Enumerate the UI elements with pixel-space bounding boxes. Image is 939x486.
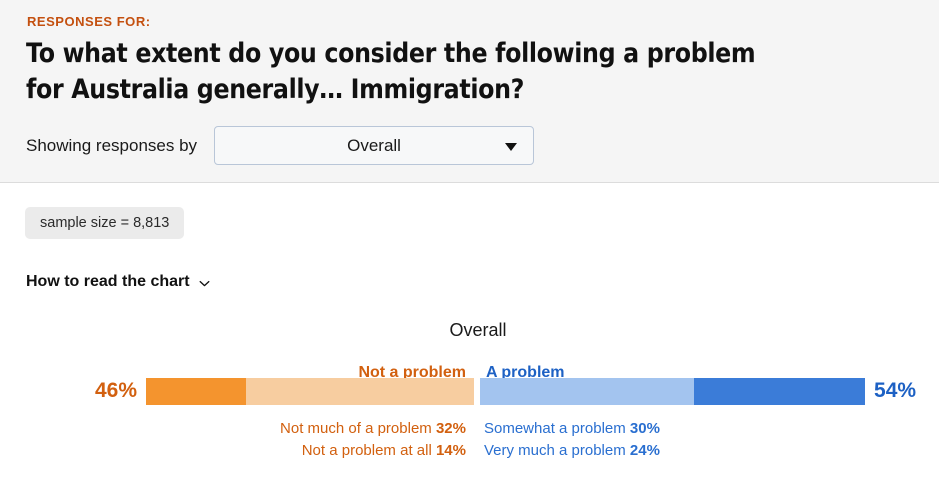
- header-band: RESPONSES FOR: To what extent do you con…: [0, 0, 939, 183]
- positive-total-percent: 54%: [874, 379, 916, 403]
- legend-item-label: Not a problem at all: [302, 442, 432, 459]
- bar-segment-not-a-problem-at-all[interactable]: [146, 378, 246, 405]
- legend-item-very-much-a-problem: Very much a problem 24%: [484, 442, 660, 459]
- eyebrow-label: RESPONSES FOR:: [27, 14, 151, 29]
- legend-item-value: 24%: [630, 442, 660, 459]
- legend-item-value: 30%: [630, 420, 660, 437]
- legend-item-label: Somewhat a problem: [484, 420, 626, 437]
- filter-label: Showing responses by: [26, 136, 197, 156]
- legend-item-value: 32%: [436, 420, 466, 437]
- legend-item-value: 14%: [436, 442, 466, 459]
- legend-row: Not much of a problem 32% Somewhat a pro…: [0, 420, 939, 442]
- responses-by-dropdown[interactable]: Overall: [214, 126, 534, 165]
- legend-item-somewhat-a-problem: Somewhat a problem 30%: [484, 420, 660, 437]
- page-title: To what extent do you consider the follo…: [26, 36, 800, 108]
- negative-total-percent: 46%: [95, 379, 137, 403]
- filter-row: Showing responses by Overall: [26, 126, 534, 165]
- bar-segment-very-much-a-problem[interactable]: [694, 378, 865, 405]
- legend-row: Not a problem at all 14% Very much a pro…: [0, 442, 939, 464]
- how-to-read-label: How to read the chart: [26, 273, 190, 291]
- legend-item-label: Very much a problem: [484, 442, 626, 459]
- sample-size-badge: sample size = 8,813: [25, 207, 184, 239]
- chart-category-legend: Not much of a problem 32% Somewhat a pro…: [0, 420, 939, 464]
- legend-item-label: Not much of a problem: [280, 420, 432, 437]
- legend-item-not-a-problem-at-all: Not a problem at all 14%: [302, 442, 466, 459]
- chart-title: Overall: [0, 320, 939, 341]
- chevron-down-icon: [199, 278, 210, 289]
- bar-segment-not-much-of-a-problem[interactable]: [246, 378, 474, 405]
- bar-segment-somewhat-a-problem[interactable]: [480, 378, 694, 405]
- chevron-down-icon: [505, 143, 517, 151]
- stacked-bar-row: 46% 54%: [0, 378, 939, 405]
- legend-item-not-much-of-a-problem: Not much of a problem 32%: [280, 420, 466, 437]
- how-to-read-the-chart-toggle[interactable]: How to read the chart: [26, 273, 210, 291]
- dropdown-selected-value: Overall: [347, 136, 401, 156]
